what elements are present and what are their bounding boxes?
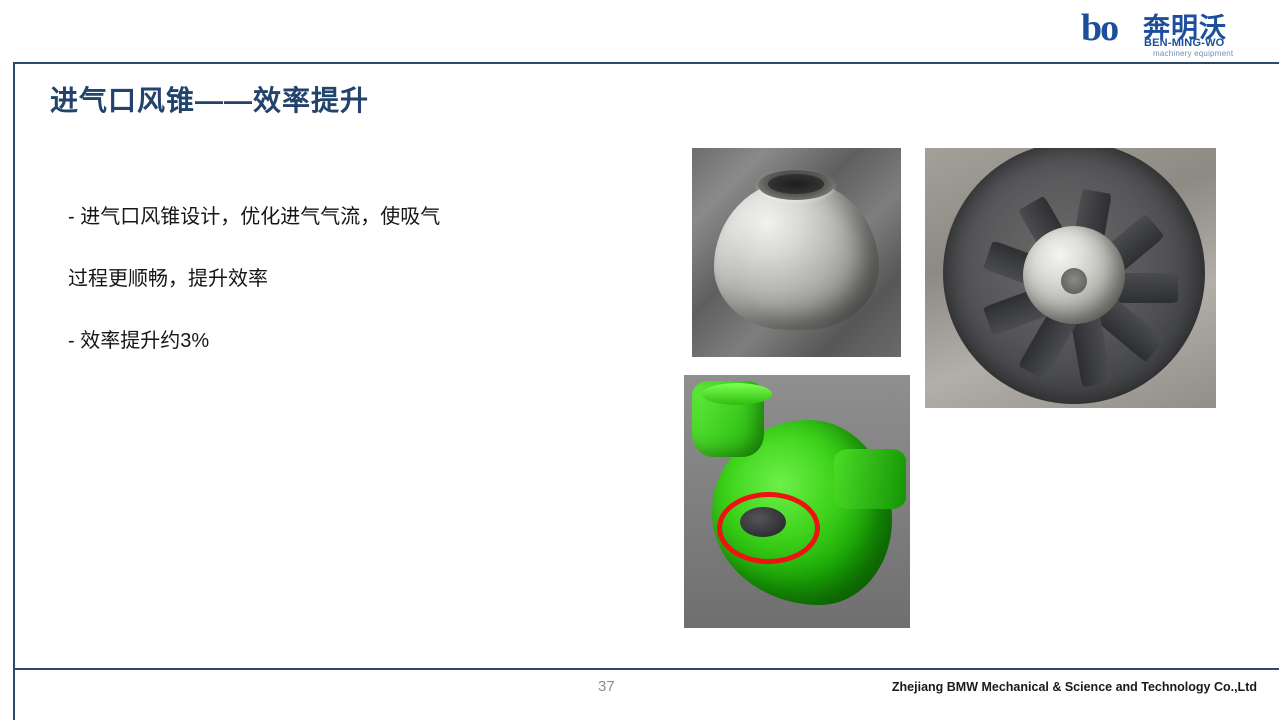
highlight-circle-annotation bbox=[717, 492, 820, 564]
bullet-list: - 进气口风锥设计，优化进气气流，使吸气 过程更顺畅，提升效率 - 效率提升约3… bbox=[68, 186, 628, 372]
company-logo: bo 奔明沃 BEN-MING-WO machinery equipment bbox=[1081, 4, 1261, 58]
footer-company-text: Zhejiang BMW Mechanical & Science and Te… bbox=[892, 680, 1257, 694]
logo-english-name: BEN-MING-WO bbox=[1144, 37, 1224, 49]
impeller-hub-hole bbox=[1061, 268, 1087, 294]
cad-inlet-flange bbox=[702, 383, 772, 405]
photo-impeller bbox=[925, 148, 1216, 408]
slide: bo 奔明沃 BEN-MING-WO machinery equipment 进… bbox=[0, 0, 1279, 720]
cad-outlet-duct bbox=[834, 449, 906, 509]
page-title: 进气口风锥——效率提升 bbox=[50, 79, 369, 119]
logo-tagline: machinery equipment bbox=[1153, 49, 1233, 58]
cad-inlet-duct bbox=[692, 381, 764, 457]
logo-mark: bo bbox=[1081, 6, 1117, 50]
cone-hole-shape bbox=[768, 174, 824, 194]
footer-divider bbox=[13, 668, 1279, 670]
page-number: 37 bbox=[598, 678, 615, 695]
bullet-line-1: - 进气口风锥设计，优化进气气流，使吸气 bbox=[68, 186, 628, 248]
bullet-line-2: 过程更顺畅，提升效率 bbox=[68, 248, 628, 310]
bullet-line-3: - 效率提升约3% bbox=[68, 310, 628, 372]
left-accent-bar bbox=[0, 0, 15, 720]
left-accent-bar-inner bbox=[0, 0, 11, 720]
photo-inlet-cone bbox=[692, 148, 901, 357]
slide-header: bo 奔明沃 BEN-MING-WO machinery equipment bbox=[13, 0, 1279, 64]
cone-body-shape bbox=[714, 180, 879, 330]
photo-cad-model bbox=[684, 375, 910, 628]
